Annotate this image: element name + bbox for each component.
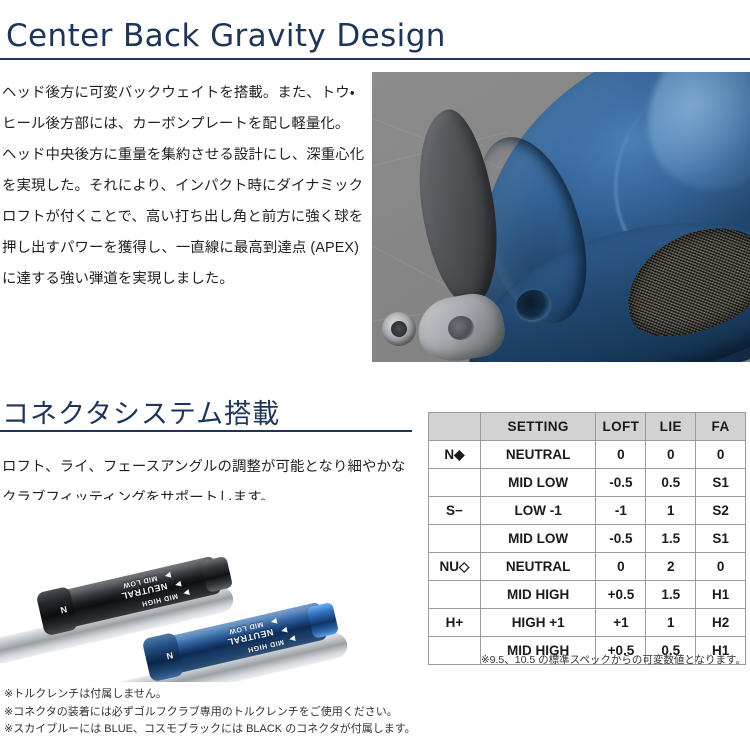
description-line: ロフトが付くことで、高い打ち出し角と前方に強く球を — [2, 202, 364, 233]
page-title: Center Back Gravity Design — [6, 18, 446, 54]
cell-setting: HIGH +1 — [480, 609, 596, 637]
table-row: MID LOW -0.5 0.5 S1 — [429, 469, 746, 497]
cell-lie: 1.5 — [646, 525, 696, 553]
table-row: S− LOW -1 -1 1 S2 — [429, 497, 746, 525]
table-row: N◆ NEUTRAL 0 0 0 — [429, 441, 746, 469]
cell-loft: -0.5 — [596, 469, 646, 497]
cell-setting: MID LOW — [480, 469, 596, 497]
footnote-line: ※コネクタの装着には必ずゴルフクラブ専用のトルクレンチをご使用ください。 — [4, 704, 416, 722]
cell-loft: +0.5 — [596, 581, 646, 609]
cell-lie: 0.5 — [646, 469, 696, 497]
connector-section-title: コネクタシステム搭載 — [2, 392, 280, 431]
arrow-icon — [164, 572, 171, 579]
cell-loft: 0 — [596, 553, 646, 581]
cell-lie: 1.5 — [646, 581, 696, 609]
cell-code — [429, 581, 481, 609]
table-header-row: SETTING LOFT LIE FA — [429, 413, 746, 441]
table-row: MID LOW -0.5 1.5 S1 — [429, 525, 746, 553]
cell-lie: 0 — [646, 441, 696, 469]
cell-code — [429, 525, 481, 553]
column-header-lie: LIE — [646, 413, 696, 441]
cell-fa: 0 — [696, 553, 746, 581]
arrow-icon — [175, 581, 182, 588]
description-line: を実現した。それにより、インパクト時にダイナミック — [2, 171, 364, 202]
table-row: NU◇ NEUTRAL 0 2 0 — [429, 553, 746, 581]
mark-n: N — [165, 650, 174, 661]
weight-screw — [382, 312, 416, 346]
cell-fa: S1 — [696, 469, 746, 497]
description-line: ロフト、ライ、フェースアングルの調整が可能となり細やかな — [2, 452, 402, 483]
cell-fa: 0 — [696, 441, 746, 469]
description-line: に達する強い弾道を実現しました。 — [2, 264, 364, 295]
cell-loft: +1 — [596, 609, 646, 637]
table-footnote: ※9.5、10.5 の標準スペックからの可変数値となります。 — [428, 652, 746, 667]
page-footnotes: ※トルクレンチは付属しません。 ※コネクタの装着には必ずゴルフクラブ専用のトルク… — [4, 686, 416, 739]
cell-lie: 1 — [646, 609, 696, 637]
loft-lie-spec-table: SETTING LOFT LIE FA N◆ NEUTRAL 0 0 0 MID… — [428, 412, 746, 665]
product-feature-page: Center Back Gravity Design ヘッド後方に可変バックウェ… — [0, 0, 750, 750]
main-description: ヘッド後方に可変バックウェイトを搭載。また、トウ・ ヒール後方部には、カーボンプ… — [2, 78, 364, 295]
title-divider — [0, 58, 750, 60]
column-header-loft: LOFT — [596, 413, 646, 441]
table-row: H+ HIGH +1 +1 1 H2 — [429, 609, 746, 637]
cell-setting: NEUTRAL — [480, 553, 596, 581]
cell-setting: MID HIGH — [480, 581, 596, 609]
column-header-fa: FA — [696, 413, 746, 441]
arrow-icon — [183, 589, 190, 596]
connector-photo: NEUTRAL MID HIGH MID LOW N NEUTRAL MID H… — [0, 500, 420, 682]
cell-loft: 0 — [596, 441, 646, 469]
arrow-icon — [270, 618, 277, 625]
description-line: 押し出すパワーを獲得し、一直線に最高到達点 (APEX) — [2, 233, 364, 264]
description-line: ヘッド後方に可変バックウェイトを搭載。また、トウ・ — [2, 78, 364, 109]
cell-lie: 1 — [646, 497, 696, 525]
cell-code — [429, 469, 481, 497]
cell-code: N◆ — [429, 441, 481, 469]
cell-code: NU◇ — [429, 553, 481, 581]
column-header-setting: SETTING — [480, 413, 596, 441]
cell-code: H+ — [429, 609, 481, 637]
driver-head-render — [372, 72, 750, 362]
connector-title-divider — [0, 430, 412, 432]
table-row: MID HIGH +0.5 1.5 H1 — [429, 581, 746, 609]
table-body: N◆ NEUTRAL 0 0 0 MID LOW -0.5 0.5 S1 S− … — [429, 441, 746, 665]
footnote-line: ※スカイブルーには BLUE、コスモブラックには BLACK のコネクタが付属し… — [4, 721, 416, 739]
arrow-icon — [281, 627, 288, 634]
cell-setting: LOW -1 — [480, 497, 596, 525]
cell-fa: S1 — [696, 525, 746, 553]
mark-n: N — [59, 604, 68, 615]
cell-fa: H2 — [696, 609, 746, 637]
column-header-code — [429, 413, 481, 441]
cell-setting: NEUTRAL — [480, 441, 596, 469]
cell-setting: MID LOW — [480, 525, 596, 553]
arrow-icon — [289, 635, 296, 642]
description-line: ヘッド中央後方に重量を集約させる設計にし、深重心化 — [2, 140, 364, 171]
description-line: ヒール後方部には、カーボンプレートを配し軽量化。 — [2, 109, 364, 140]
cell-loft: -1 — [596, 497, 646, 525]
cell-fa: S2 — [696, 497, 746, 525]
cell-code: S− — [429, 497, 481, 525]
footnote-line: ※トルクレンチは付属しません。 — [4, 686, 416, 704]
cell-loft: -0.5 — [596, 525, 646, 553]
cell-fa: H1 — [696, 581, 746, 609]
cell-lie: 2 — [646, 553, 696, 581]
